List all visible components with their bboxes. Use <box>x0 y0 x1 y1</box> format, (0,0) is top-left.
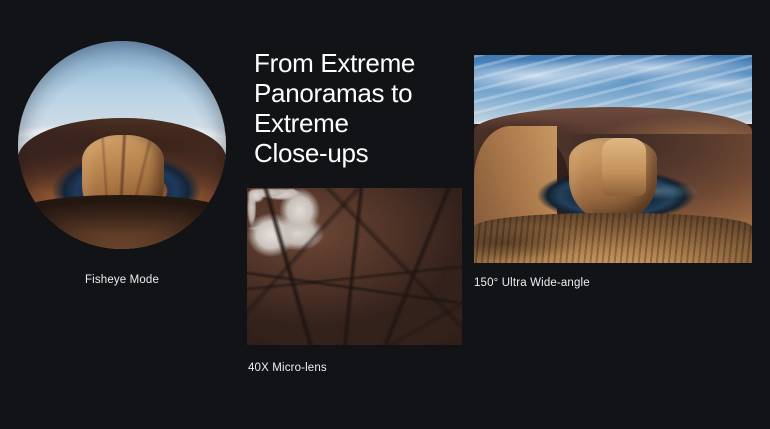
page-title: From Extreme Panoramas to Extreme Close-… <box>254 48 464 168</box>
slide-canvas: Fisheye Mode From Extreme Panoramas to E… <box>0 0 770 429</box>
micro-vignette <box>247 188 462 345</box>
fisheye-caption: Fisheye Mode <box>85 274 159 286</box>
wide-vignette <box>474 55 752 263</box>
ultra-wide-angle-caption: 150° Ultra Wide-angle <box>474 277 590 289</box>
micro-lens-image[interactable] <box>247 188 462 345</box>
micro-lens-caption: 40X Micro-lens <box>248 362 327 374</box>
fisheye-vignette <box>18 41 226 249</box>
ultra-wide-angle-image[interactable] <box>474 55 752 263</box>
fisheye-mode-image[interactable] <box>18 41 226 249</box>
